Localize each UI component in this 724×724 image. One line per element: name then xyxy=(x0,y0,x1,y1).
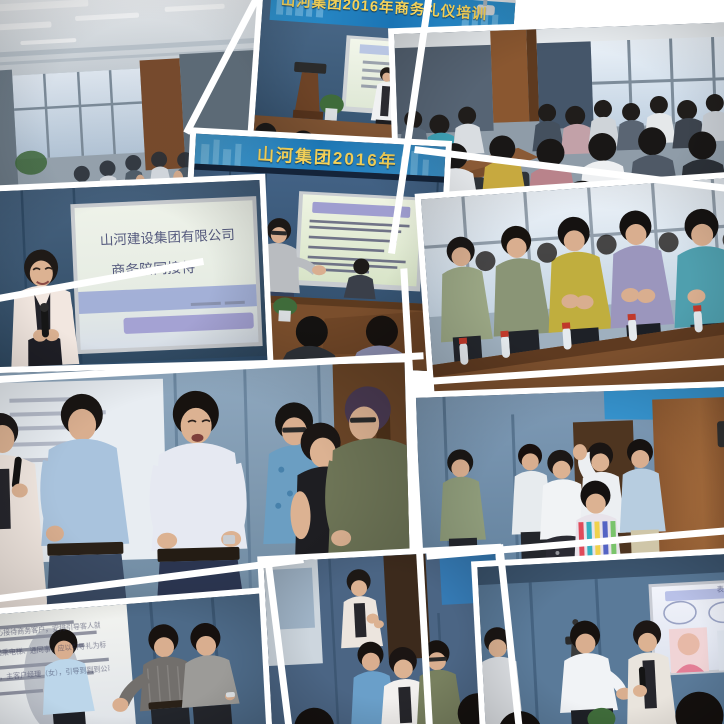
panel-two-men-handshake-demo: 1、进入酒店的心接待商务客户，安排引导客人就座，穿着得体进之陪中客房客户请在问走… xyxy=(0,592,285,724)
panel-business-card-exchange-demo: 表现 xyxy=(477,553,724,724)
photo-handshake-demo xyxy=(0,592,285,724)
slide-grooming-title: 表现 xyxy=(717,584,724,595)
panel-female-trainer-with-microphone: 山河建设集团有限公司 商务陪同接待 xyxy=(0,180,268,394)
photo-trainer-title-slide xyxy=(0,180,268,394)
photo-small-group xyxy=(264,550,505,724)
photo-card-exchange xyxy=(477,553,724,724)
photo-collage: 山河集团2016年商务礼仪培训 xyxy=(0,0,724,724)
slide-title-sub: 商务陪同接待 xyxy=(111,257,196,281)
photo-standing-clapping xyxy=(421,177,724,411)
panel-standing-participants-applauding xyxy=(421,177,724,411)
panel-small-group-discussion xyxy=(264,550,505,724)
